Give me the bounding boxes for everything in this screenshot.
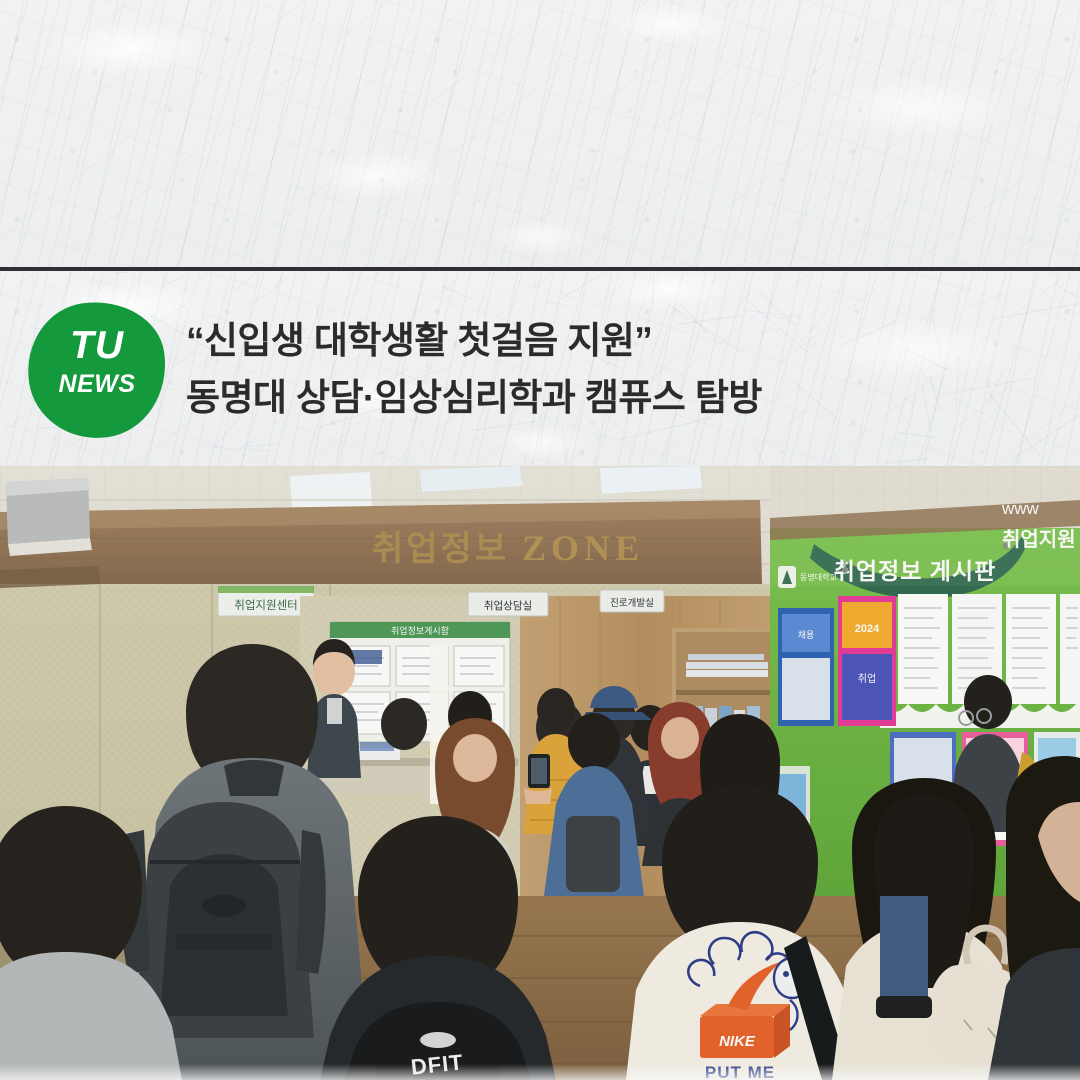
photo-illustration: 취업정보 ZONE 취업지원센터 [0, 466, 1080, 1080]
tu-news-logo: TU NEWS [28, 302, 166, 438]
logo-text-tu: TU [28, 326, 166, 365]
header-divider [0, 267, 1080, 271]
logo-text-news: NEWS [28, 372, 166, 397]
news-photo: 취업지원센티 로봔에 모인 신입생들이 설명을 듣고 있다 [0, 466, 1080, 1080]
paper-texture-top [0, 0, 1080, 269]
headline-line-2: 동명대 상담·임상심리학과 캠퓨스 탐방 [186, 369, 1046, 426]
headline-line-1: “신입생 대학생활 첫걸음 지원” [186, 312, 1046, 369]
tu-news-card: TU NEWS “신입생 대학생활 첫걸음 지원” 동명대 상담·임상심리학과 … [0, 0, 1080, 1080]
headline: “신입생 대학생활 첫걸음 지원” 동명대 상담·임상심리학과 캠퓨스 탐방 [186, 312, 1046, 426]
